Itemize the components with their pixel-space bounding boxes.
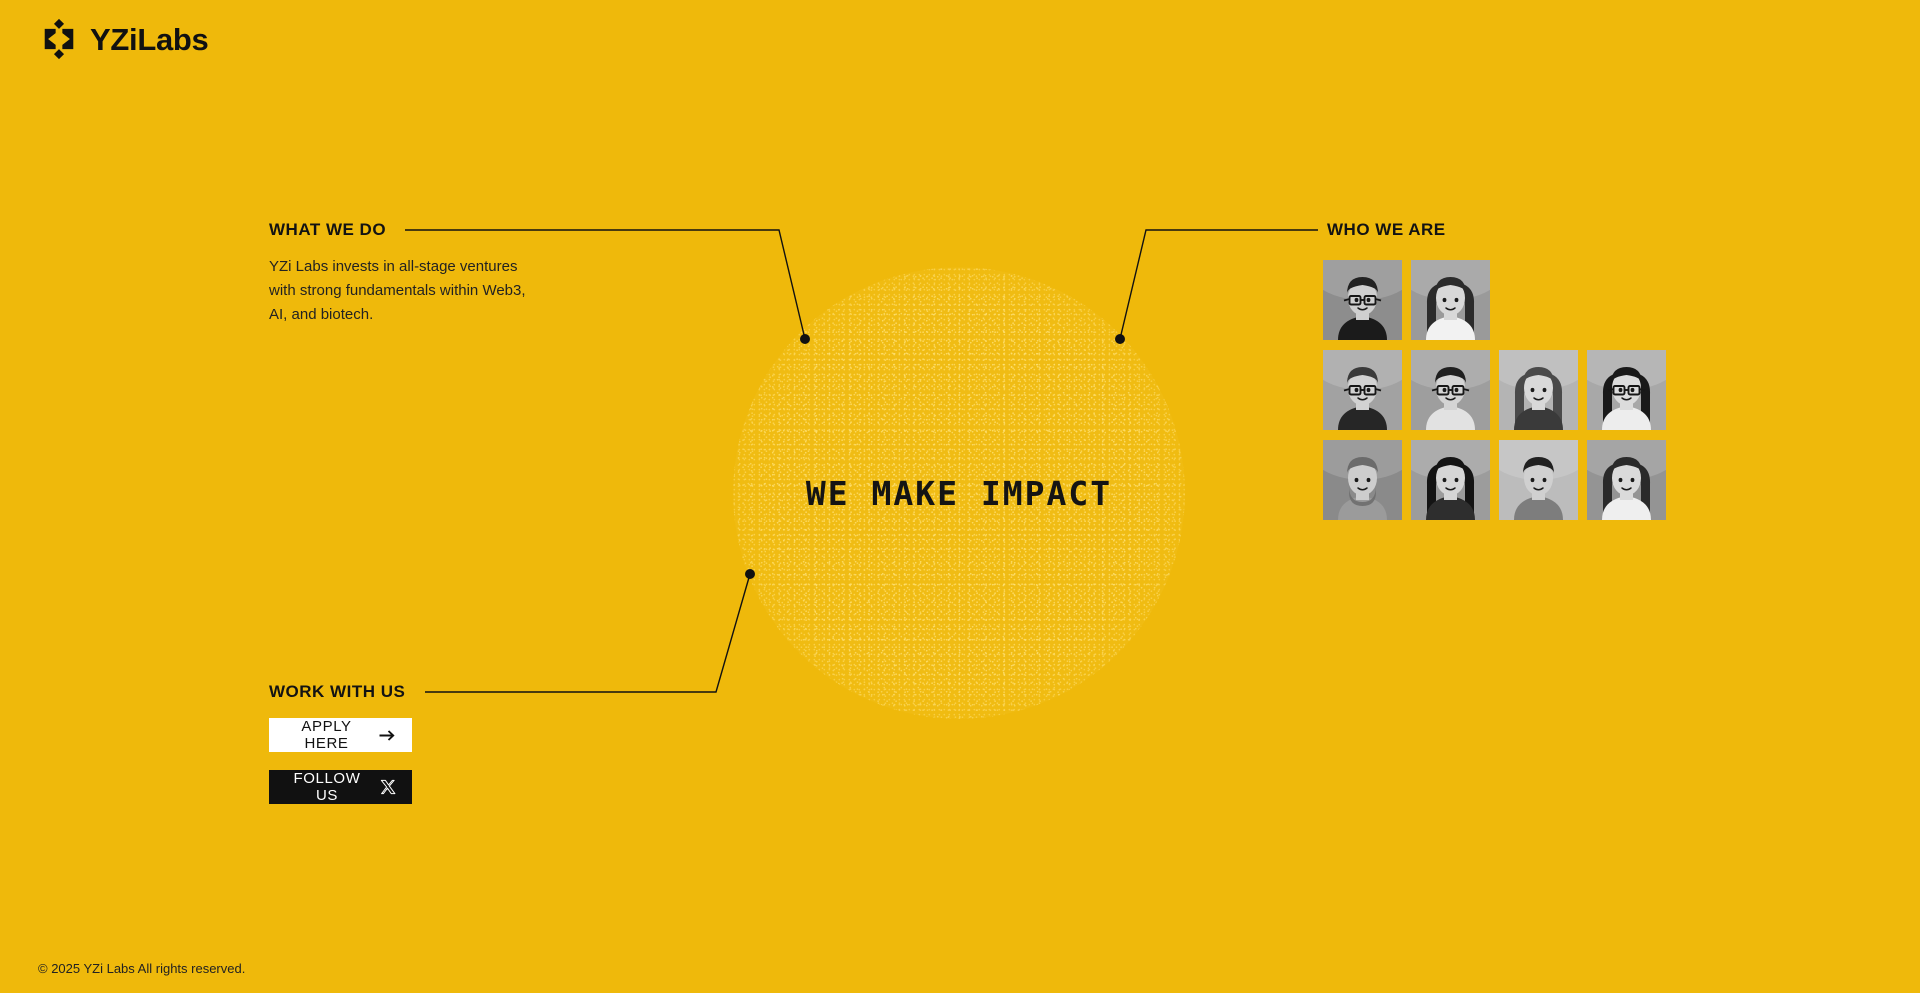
team-avatar[interactable]: [1411, 260, 1490, 340]
apply-here-button[interactable]: APPLY HERE: [269, 718, 412, 752]
team-avatar[interactable]: [1323, 440, 1402, 520]
team-avatar[interactable]: [1323, 350, 1402, 430]
arrow-right-icon: [379, 729, 396, 742]
team-avatar[interactable]: [1587, 440, 1666, 520]
section-heading-what-we-do: WHAT WE DO: [269, 220, 386, 240]
brand-wordmark: YZiLabs: [90, 24, 208, 55]
what-we-do-line-2: with strong fundamentals within Web3,: [269, 279, 526, 303]
team-avatar-empty-slot: [1587, 260, 1666, 340]
footer-copyright: © 2025 YZi Labs All rights reserved.: [38, 961, 245, 976]
team-avatar-empty-slot: [1499, 260, 1578, 340]
what-we-do-line-3: AI, and biotech.: [269, 303, 526, 327]
connector-work-with-us: [425, 574, 750, 692]
x-twitter-icon: [380, 779, 396, 795]
page-root: YZiLabs WE MAKE IMPACT WHAT WE DO YZi La…: [0, 0, 1920, 993]
apply-here-label: APPLY HERE: [285, 718, 368, 752]
team-avatar[interactable]: [1587, 350, 1666, 430]
team-avatar[interactable]: [1411, 440, 1490, 520]
team-avatar[interactable]: [1411, 350, 1490, 430]
team-avatar[interactable]: [1499, 440, 1578, 520]
section-heading-who-we-are: WHO WE ARE: [1327, 220, 1446, 240]
what-we-do-line-1: YZi Labs invests in all-stage ventures: [269, 255, 526, 279]
follow-us-button[interactable]: FOLLOW US: [269, 770, 412, 804]
section-heading-work-with-us: WORK WITH US: [269, 682, 405, 702]
team-avatar[interactable]: [1499, 350, 1578, 430]
impact-headline: WE MAKE IMPACT: [733, 267, 1185, 719]
brand-logo[interactable]: YZiLabs: [38, 18, 208, 60]
team-avatar[interactable]: [1323, 260, 1402, 340]
team-avatar-grid: [1323, 260, 1666, 520]
what-we-do-body: YZi Labs invests in all-stage ventures w…: [269, 255, 526, 326]
follow-us-label: FOLLOW US: [285, 770, 369, 804]
yzi-hourglass-mark-icon: [38, 18, 80, 60]
